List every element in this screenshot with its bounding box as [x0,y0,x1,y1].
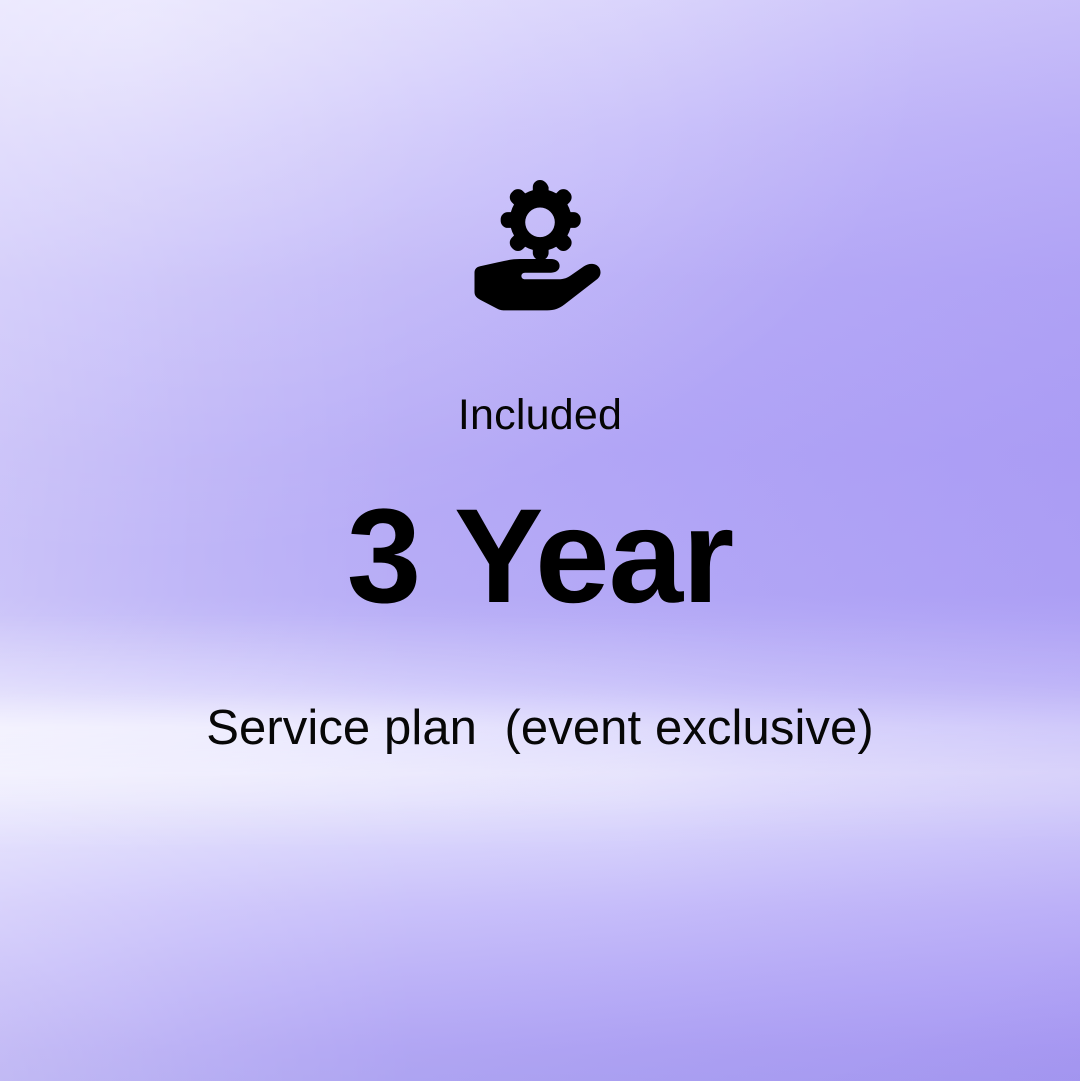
hand-holding-gear-icon [0,176,1080,316]
card-content: Included 3 Year Service plan (event excl… [0,0,1080,1081]
promo-card: Included 3 Year Service plan (event excl… [0,0,1080,1081]
gear-icon-shape [501,180,581,260]
hand-icon-shape [475,259,601,310]
eyebrow-label: Included [0,392,1080,439]
subtitle-label: Service plan (event exclusive) [0,699,1080,758]
page-title: 3 Year [0,480,1080,634]
